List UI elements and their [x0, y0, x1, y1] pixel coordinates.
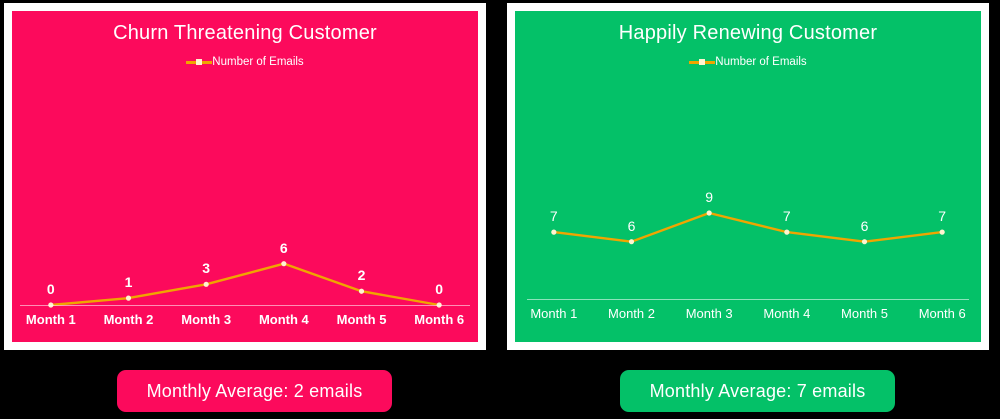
- x-tick-label: Month 1: [12, 311, 90, 329]
- x-tick-label: Month 6: [400, 311, 478, 329]
- monthly-average-badge-churn[interactable]: Monthly Average: 2 emails: [117, 370, 392, 412]
- line-series-renewing: [515, 11, 981, 342]
- x-tick-label: Month 4: [245, 311, 323, 329]
- plot-area-churn: [12, 11, 478, 342]
- x-tick-label: Month 4: [748, 305, 826, 323]
- x-tick-label: Month 3: [670, 305, 748, 323]
- panel-frame-renewing: Happily Renewing Customer Number of Emai…: [507, 3, 989, 350]
- panel-frame-churn: Churn Threatening Customer Number of Ema…: [4, 3, 486, 350]
- data-point-marker: [707, 210, 712, 215]
- data-point-marker: [940, 230, 945, 235]
- data-point-label: 0: [47, 281, 55, 297]
- x-axis-line-churn: [20, 305, 470, 306]
- x-axis-tick-labels-churn: Month 1Month 2Month 3Month 4Month 5Month…: [12, 311, 478, 329]
- data-point-label: 7: [783, 208, 791, 224]
- monthly-average-badge-renewing[interactable]: Monthly Average: 7 emails: [620, 370, 895, 412]
- x-tick-label: Month 5: [323, 311, 401, 329]
- x-tick-label: Month 2: [90, 311, 168, 329]
- data-point-label: 6: [280, 240, 288, 256]
- data-point-marker: [359, 289, 364, 294]
- data-point-marker: [126, 296, 131, 301]
- chart-panel-churn: Churn Threatening Customer Number of Ema…: [12, 11, 478, 342]
- data-point-marker: [629, 239, 634, 244]
- series-line: [51, 264, 439, 305]
- plot-area-renewing: [515, 11, 981, 342]
- data-point-marker: [204, 282, 209, 287]
- data-point-label: 6: [628, 218, 636, 234]
- data-point-label: 9: [705, 189, 713, 205]
- series-line: [554, 213, 942, 242]
- line-series-churn: [12, 11, 478, 342]
- data-point-marker: [784, 230, 789, 235]
- chart-panel-renewing: Happily Renewing Customer Number of Emai…: [515, 11, 981, 342]
- data-point-label: 2: [358, 267, 366, 283]
- data-point-marker: [281, 261, 286, 266]
- x-tick-label: Month 2: [593, 305, 671, 323]
- x-tick-label: Month 6: [903, 305, 981, 323]
- data-point-marker: [551, 230, 556, 235]
- x-tick-label: Month 5: [826, 305, 904, 323]
- data-point-label: 1: [125, 274, 133, 290]
- x-tick-label: Month 3: [167, 311, 245, 329]
- x-axis-line-renewing: [527, 299, 969, 300]
- dashboard-stage: Churn Threatening Customer Number of Ema…: [0, 0, 1000, 419]
- data-point-marker: [862, 239, 867, 244]
- data-point-label: 3: [202, 260, 210, 276]
- data-point-label: 6: [861, 218, 869, 234]
- x-tick-label: Month 1: [515, 305, 593, 323]
- data-point-label: 0: [435, 281, 443, 297]
- x-axis-tick-labels-renewing: Month 1Month 2Month 3Month 4Month 5Month…: [515, 305, 981, 323]
- data-point-label: 7: [550, 208, 558, 224]
- data-point-label: 7: [938, 208, 946, 224]
